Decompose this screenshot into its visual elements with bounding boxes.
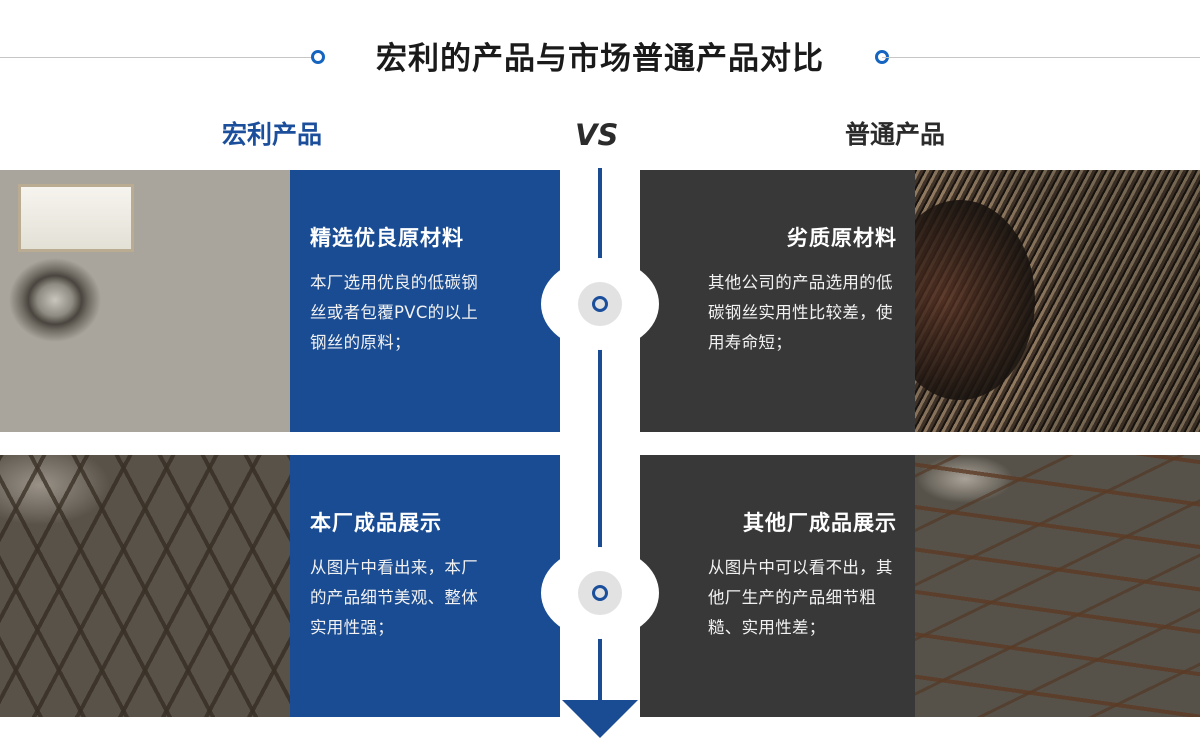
row-1-left-title: 精选优良原材料: [310, 222, 490, 252]
row-1-right-panel: 劣质原材料 其他公司的产品选用的低碳钢丝实用性比较差，使用寿命短；: [640, 170, 915, 432]
row-2-right-body: 从图片中可以看不出，其他厂生产的产品细节粗糙、实用性差；: [708, 553, 897, 643]
page-title: 宏利的产品与市场普通产品对比: [0, 33, 1200, 78]
row-1-left-panel: 精选优良原材料 本厂选用优良的低碳钢丝或者包覆PVC的以上钢丝的原料；: [290, 170, 560, 432]
row-2-left-panel: 本厂成品展示 从图片中看出来，本厂的产品细节美观、整体实用性强；: [290, 455, 560, 717]
title-band: 宏利的产品与市场普通产品对比: [0, 0, 1200, 100]
row-1-right-title: 劣质原材料: [708, 222, 897, 252]
photo-good-wire-coils: [0, 170, 290, 432]
row-2-right-photo: [915, 455, 1200, 717]
photo-bad-gabion-mesh: [915, 455, 1200, 717]
column-header-ordinary: 普通产品: [845, 104, 945, 166]
row-1-left-photo: [0, 170, 290, 432]
photo-good-gabion-mesh: [0, 455, 290, 717]
comparison-infographic: 宏利的产品与市场普通产品对比 宏利产品 VS 普通产品 精选优良原材料 本厂选用…: [0, 0, 1200, 738]
row-2-left-photo: [0, 455, 290, 717]
triangle-down-icon: [562, 700, 638, 738]
row-1-left-body: 本厂选用优良的低碳钢丝或者包覆PVC的以上钢丝的原料；: [310, 268, 490, 358]
circle-outline-icon-node-1: [592, 296, 608, 312]
row-2-right-panel: 其他厂成品展示 从图片中可以看不出，其他厂生产的产品细节粗糙、实用性差；: [640, 455, 915, 717]
column-header-vs: VS: [575, 104, 618, 166]
row-2-left-body: 从图片中看出来，本厂的产品细节美观、整体实用性强；: [310, 553, 490, 643]
row-2-left-title: 本厂成品展示: [310, 507, 490, 537]
title-rule-right: [882, 57, 1200, 58]
photo-bad-wire-coil: [915, 170, 1200, 432]
column-headers: 宏利产品 VS 普通产品: [0, 104, 1200, 166]
row-1-right-photo: [915, 170, 1200, 432]
column-header-ours: 宏利产品: [222, 104, 322, 166]
row-2-right-title: 其他厂成品展示: [708, 507, 897, 537]
circle-outline-icon-node-2: [592, 585, 608, 601]
row-1-right-body: 其他公司的产品选用的低碳钢丝实用性比较差，使用寿命短；: [708, 268, 897, 358]
